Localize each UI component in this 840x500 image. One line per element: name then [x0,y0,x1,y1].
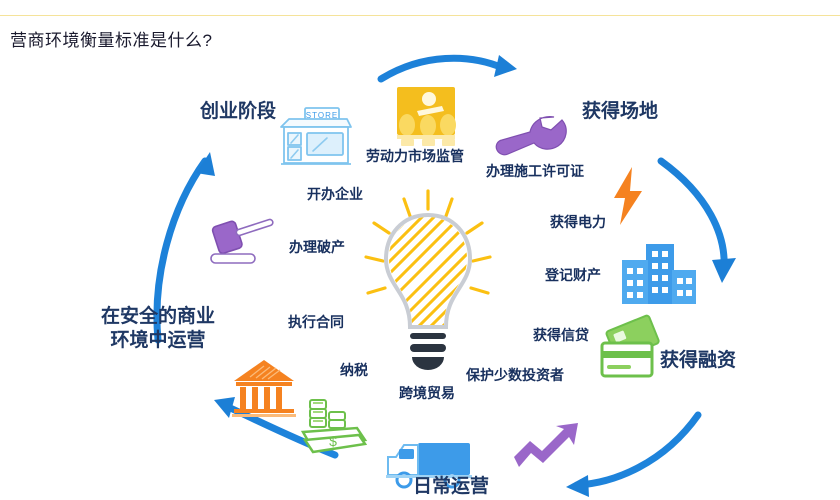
wrench-icon [492,113,574,165]
store-icon: STORE [277,105,355,170]
building-icon [620,242,698,306]
growth-arrow-icon [510,423,582,471]
phase-label-startup: 创业阶段 [200,100,276,124]
phase-label-operations: 日常运营 [413,475,489,499]
svg-text:$: $ [329,433,337,449]
business-environment-cycle-diagram: STORE [0,45,840,500]
lightbulb-icon [358,185,498,385]
credit-card-icon [598,321,668,383]
phase-label-secure-line-1: 在安全的商业 [101,305,215,329]
phase-label-financing: 获得融资 [660,349,736,373]
money-icon: $ [297,390,369,460]
topic-label-start-business: 开办企业 [307,186,363,203]
topic-label-cross-border-trade: 跨境贸易 [399,385,455,402]
lightning-icon [608,165,648,227]
topic-label-protect-investors: 保护少数投资者 [466,367,564,384]
courthouse-icon [230,357,298,419]
title-divider [0,15,840,16]
topic-label-resolve-insolvency: 办理破产 [289,239,345,256]
workers-icon [395,85,461,147]
svg-text:STORE: STORE [306,111,338,120]
topic-label-get-electricity: 获得电力 [550,214,606,231]
topic-label-paying-taxes: 纳税 [340,362,368,379]
topic-label-get-credit: 获得信贷 [533,327,589,344]
phase-label-location: 获得场地 [582,100,658,124]
slide-canvas: 营商环境衡量标准是什么? [0,0,840,500]
arrow-bottom-right [566,415,698,497]
topic-label-register-property: 登记财产 [545,267,601,284]
phase-label-secure-line-2: 环境中运营 [101,329,215,353]
gavel-icon [205,210,287,272]
topic-label-labor-market: 劳动力市场监管 [366,148,464,165]
arrow-top [381,55,517,79]
topic-label-enforce-contracts: 执行合同 [288,314,344,331]
phase-label-secure-operating: 在安全的商业 环境中运营 [101,305,215,353]
topic-label-construction-permit: 办理施工许可证 [486,163,584,180]
